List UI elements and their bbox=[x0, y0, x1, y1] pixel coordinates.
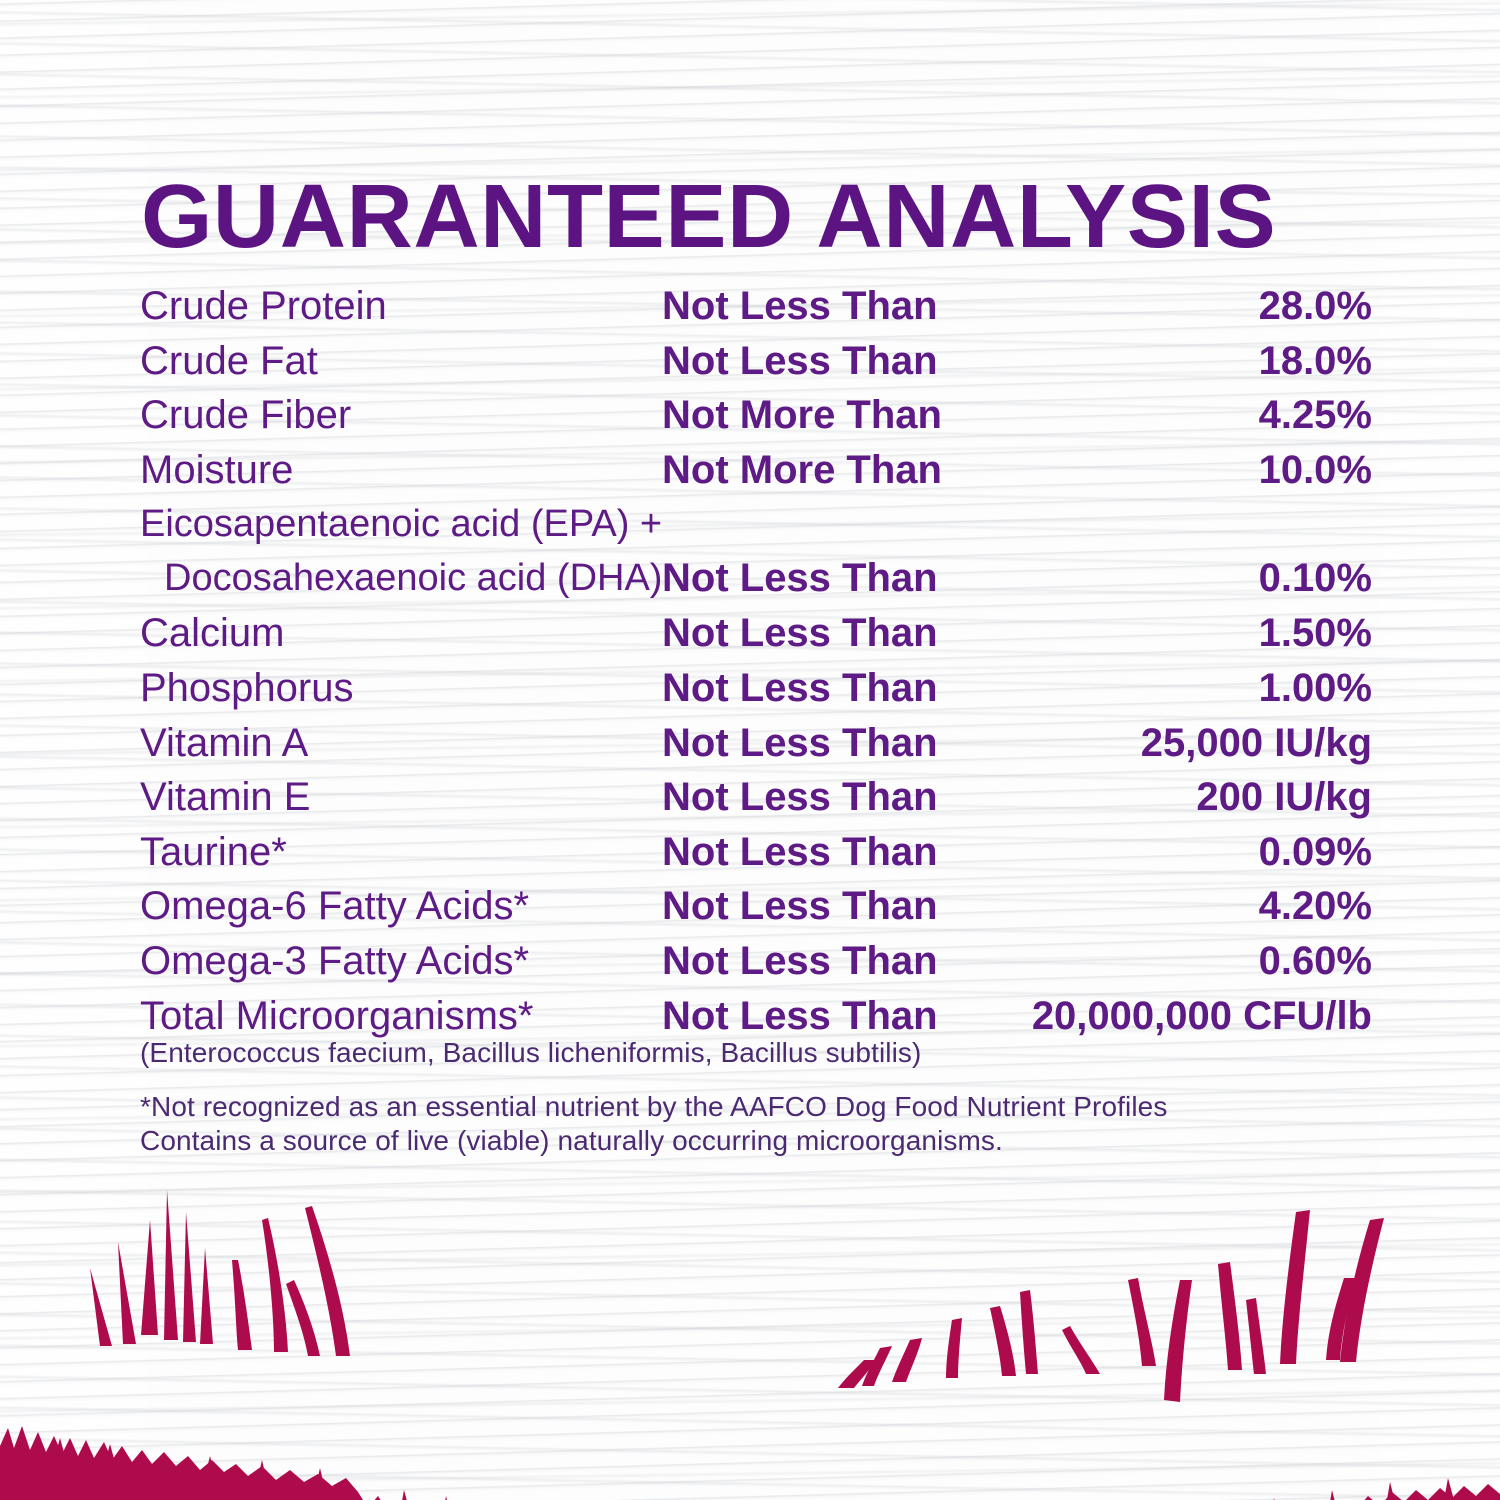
nutrient-label: Vitamin A bbox=[140, 720, 308, 766]
guaranteed-analysis-table: Crude Protein Not Less Than 28.0% Crude … bbox=[140, 283, 1372, 1047]
table-row: Calcium Not Less Than 1.50% bbox=[140, 610, 1372, 665]
value-label: 0.10% bbox=[1259, 555, 1372, 601]
qualifier-label: Not More Than bbox=[662, 447, 942, 493]
qualifier-label: Not Less Than bbox=[662, 720, 938, 766]
nutrient-label: Calcium bbox=[140, 610, 284, 656]
value-label: 200 IU/kg bbox=[1196, 774, 1372, 820]
table-row: Omega-6 Fatty Acids* Not Less Than 4.20% bbox=[140, 883, 1372, 938]
qualifier-label: Not Less Than bbox=[662, 993, 938, 1039]
nutrient-label: Total Microorganisms* bbox=[140, 993, 533, 1039]
value-label: 28.0% bbox=[1259, 283, 1372, 329]
value-label: 4.25% bbox=[1259, 392, 1372, 438]
nutrient-label: Crude Fat bbox=[140, 338, 318, 384]
table-row: Taurine* Not Less Than 0.09% bbox=[140, 829, 1372, 884]
table-row: Crude Fiber Not More Than 4.25% bbox=[140, 392, 1372, 447]
footnote-line-2: Contains a source of live (viable) natur… bbox=[140, 1124, 1167, 1158]
qualifier-label: Not Less Than bbox=[662, 665, 938, 711]
value-label: 25,000 IU/kg bbox=[1141, 720, 1372, 766]
page-title: GUARANTEED ANALYSIS bbox=[141, 172, 1276, 262]
grass-silhouette-graphic bbox=[0, 1160, 1500, 1500]
table-row: Crude Protein Not Less Than 28.0% bbox=[140, 283, 1372, 338]
table-row: Moisture Not More Than 10.0% bbox=[140, 447, 1372, 502]
nutrient-label: Vitamin E bbox=[140, 774, 310, 820]
table-row: Omega-3 Fatty Acids* Not Less Than 0.60% bbox=[140, 938, 1372, 993]
table-row: Vitamin E Not Less Than 200 IU/kg bbox=[140, 774, 1372, 829]
nutrient-label: Taurine* bbox=[140, 829, 287, 875]
qualifier-label: Not More Than bbox=[662, 392, 942, 438]
nutrient-label: Crude Fiber bbox=[140, 392, 351, 438]
value-label: 0.09% bbox=[1259, 829, 1372, 875]
nutrient-label-line2: Docosahexaenoic acid (DHA) bbox=[164, 555, 662, 601]
value-label: 4.20% bbox=[1259, 883, 1372, 929]
value-label: 18.0% bbox=[1259, 338, 1372, 384]
footnote-line-1: *Not recognized as an essential nutrient… bbox=[140, 1090, 1167, 1124]
qualifier-label: Not Less Than bbox=[662, 883, 938, 929]
qualifier-label: Not Less Than bbox=[662, 555, 938, 601]
table-row: Vitamin A Not Less Than 25,000 IU/kg bbox=[140, 720, 1372, 775]
qualifier-label: Not Less Than bbox=[662, 338, 938, 384]
table-row: Phosphorus Not Less Than 1.00% bbox=[140, 665, 1372, 720]
nutrient-label: Phosphorus bbox=[140, 665, 353, 711]
value-label: 10.0% bbox=[1259, 447, 1372, 493]
qualifier-label: Not Less Than bbox=[662, 774, 938, 820]
nutrient-label-line1: Eicosapentaenoic acid (EPA) + bbox=[140, 501, 662, 547]
guaranteed-analysis-panel: GUARANTEED ANALYSIS Crude Protein Not Le… bbox=[0, 0, 1500, 1500]
value-label: 20,000,000 CFU/lb bbox=[1032, 993, 1372, 1039]
qualifier-label: Not Less Than bbox=[662, 829, 938, 875]
table-row: Crude Fat Not Less Than 18.0% bbox=[140, 338, 1372, 393]
grass-shape bbox=[0, 1190, 1500, 1500]
qualifier-label: Not Less Than bbox=[662, 938, 938, 984]
value-label: 1.00% bbox=[1259, 665, 1372, 711]
nutrient-label: Moisture bbox=[140, 447, 293, 493]
value-label: 0.60% bbox=[1259, 938, 1372, 984]
nutrient-label: Crude Protein bbox=[140, 283, 387, 329]
value-label: 1.50% bbox=[1259, 610, 1372, 656]
footnotes-block: *Not recognized as an essential nutrient… bbox=[140, 1090, 1167, 1158]
table-row-epa-dha: Eicosapentaenoic acid (EPA) + Docosahexa… bbox=[140, 501, 1372, 610]
microorganisms-species-note: (Enterococcus faecium, Bacillus lichenif… bbox=[140, 1035, 921, 1071]
qualifier-label: Not Less Than bbox=[662, 610, 938, 656]
nutrient-label: Omega-3 Fatty Acids* bbox=[140, 938, 529, 984]
qualifier-label: Not Less Than bbox=[662, 283, 938, 329]
nutrient-label: Omega-6 Fatty Acids* bbox=[140, 883, 529, 929]
